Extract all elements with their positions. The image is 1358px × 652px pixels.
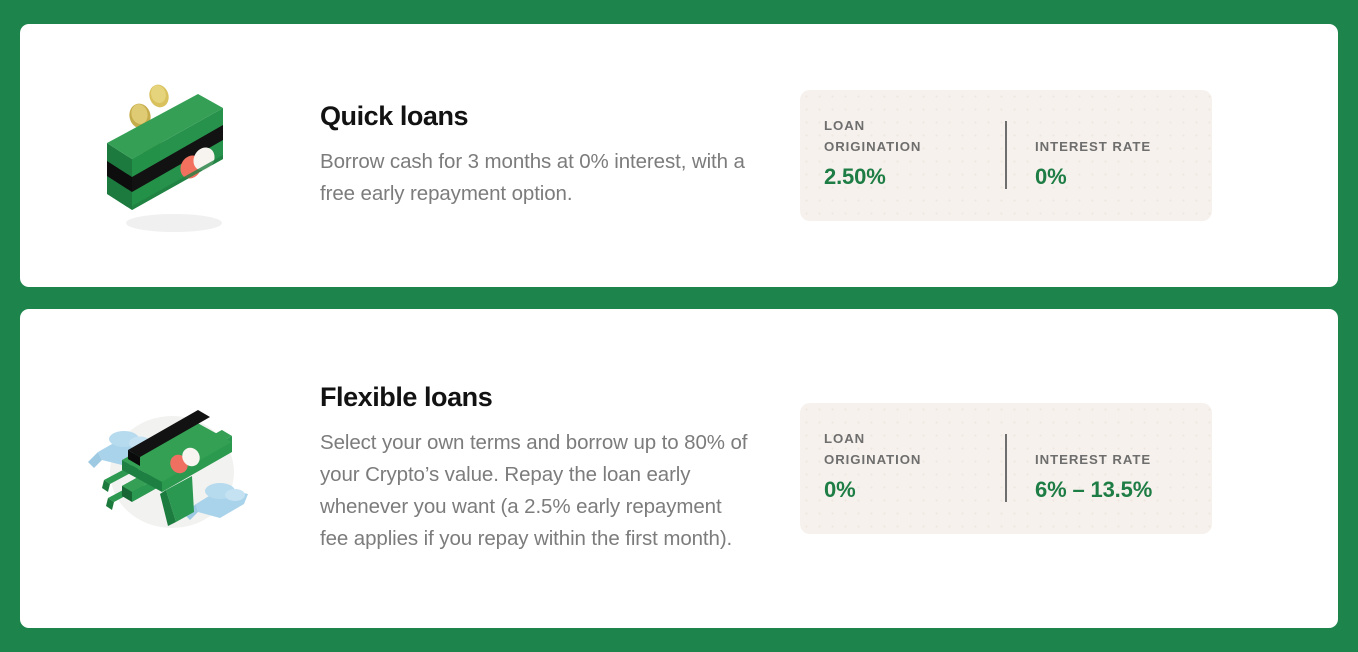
stat-value: 2.50% [824,160,1005,193]
card-title: Flexible loans [320,382,760,414]
stat-label: LOAN ORIGINATION [824,116,1005,158]
stats-panel: LOAN ORIGINATION 2.50% INTEREST RATE 0% [800,90,1212,221]
illustration-container-quick-loans [20,24,320,287]
stat-interest-rate: INTEREST RATE 6% – 13.5% [1007,429,1212,506]
stat-loan-origination: LOAN ORIGINATION 2.50% [800,116,1005,193]
stat-value: 0% [824,473,1005,506]
stat-label: LOAN ORIGINATION [824,429,1005,471]
stat-interest-rate: INTEREST RATE 0% [1007,116,1212,193]
stats-container-flexible-loans: LOAN ORIGINATION 0% INTEREST RATE 6% – 1… [790,403,1338,534]
stat-label: INTEREST RATE [1035,137,1212,158]
stats-container-quick-loans: LOAN ORIGINATION 2.50% INTEREST RATE 0% [790,90,1338,221]
illustration-container-flexible-loans [20,309,320,628]
stat-value: 0% [1035,160,1212,193]
text-container-flexible-loans: Flexible loans Select your own terms and… [320,382,790,555]
stat-label: INTEREST RATE [1035,450,1212,471]
flying-credit-card-icon [80,394,260,544]
loan-card-quick-loans[interactable]: Quick loans Borrow cash for 3 months at … [20,24,1338,287]
card-title: Quick loans [320,101,760,133]
stat-loan-origination: LOAN ORIGINATION 0% [800,429,1005,506]
stat-value: 6% – 13.5% [1035,473,1212,506]
text-container-quick-loans: Quick loans Borrow cash for 3 months at … [320,101,790,210]
card-description: Select your own terms and borrow up to 8… [320,427,750,555]
credit-card-with-coins-icon [90,71,250,241]
loan-products-page: Quick loans Borrow cash for 3 months at … [0,0,1358,652]
loan-card-flexible-loans[interactable]: Flexible loans Select your own terms and… [20,309,1338,628]
card-description: Borrow cash for 3 months at 0% interest,… [320,146,750,210]
stats-panel: LOAN ORIGINATION 0% INTEREST RATE 6% – 1… [800,403,1212,534]
